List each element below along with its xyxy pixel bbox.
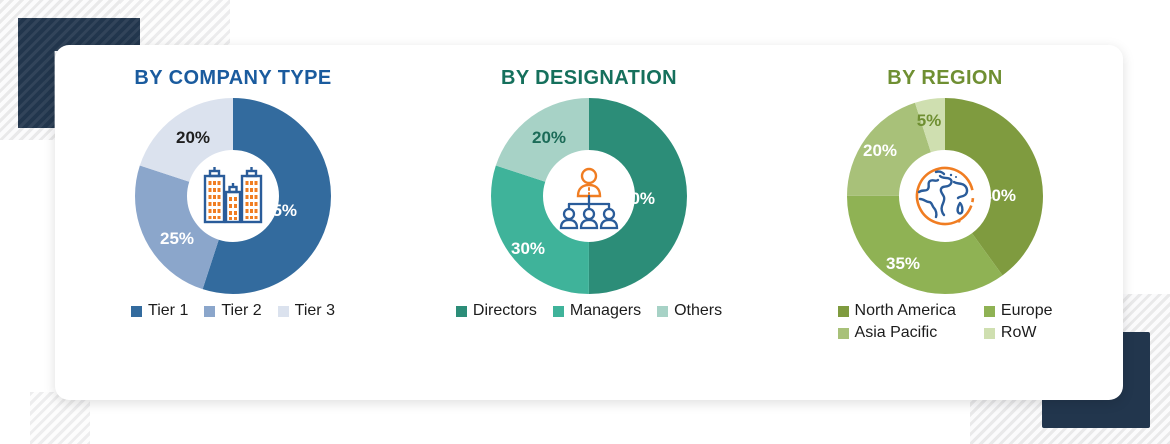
legend-company-type: Tier 1 Tier 2 Tier 3: [123, 302, 343, 320]
legend-item-managers[interactable]: Managers: [553, 302, 641, 320]
legend-swatch-directors: [456, 306, 467, 317]
legend-item-directors[interactable]: Directors: [456, 302, 537, 320]
panel-designation: BY DESIGNATION 50% 30% 20%: [411, 45, 767, 400]
slice-label-tier-2: 25%: [160, 229, 194, 249]
legend-item-asia-pacific[interactable]: Asia Pacific: [838, 324, 956, 342]
donut-region: 40% 35% 20% 5%: [837, 96, 1053, 296]
legend-swatch-tier-1: [131, 306, 142, 317]
slice-label-others: 20%: [532, 128, 566, 148]
infographic-root: BY COMPANY TYPE 55% 25% 20%: [0, 0, 1170, 444]
legend-item-row[interactable]: RoW: [984, 324, 1053, 342]
panel-company-type: BY COMPANY TYPE 55% 25% 20%: [55, 45, 411, 400]
legend-label-row: RoW: [1001, 324, 1037, 342]
legend-swatch-managers: [553, 306, 564, 317]
legend-label-managers: Managers: [570, 302, 641, 320]
donut-designation: 50% 30% 20%: [481, 96, 697, 296]
slice-label-europe: 35%: [886, 254, 920, 274]
legend-swatch-europe: [984, 306, 995, 317]
legend-swatch-tier-3: [278, 306, 289, 317]
legend-item-tier-3[interactable]: Tier 3: [278, 302, 335, 320]
panel-title-company-type: BY COMPANY TYPE: [134, 67, 331, 90]
legend-item-europe[interactable]: Europe: [984, 302, 1053, 320]
legend-swatch-tier-2: [204, 306, 215, 317]
legend-swatch-asia-pacific: [838, 328, 849, 339]
panel-title-region: BY REGION: [887, 67, 1002, 90]
chart-card: BY COMPANY TYPE 55% 25% 20%: [55, 45, 1123, 400]
legend-label-tier-1: Tier 1: [148, 302, 188, 320]
org-chart-icon: [551, 158, 627, 234]
legend-label-asia-pacific: Asia Pacific: [855, 324, 938, 342]
legend-item-north-america[interactable]: North America: [838, 302, 956, 320]
legend-label-others: Others: [674, 302, 722, 320]
buildings-icon: [195, 158, 271, 234]
slice-label-north-america: 40%: [982, 186, 1016, 206]
legend-item-tier-1[interactable]: Tier 1: [131, 302, 188, 320]
legend-swatch-row: [984, 328, 995, 339]
legend-label-tier-3: Tier 3: [295, 302, 335, 320]
legend-item-tier-2[interactable]: Tier 2: [204, 302, 261, 320]
legend-item-others[interactable]: Others: [657, 302, 722, 320]
chart-panels: BY COMPANY TYPE 55% 25% 20%: [55, 45, 1123, 400]
slice-label-row: 5%: [917, 111, 942, 131]
globe-icon: [907, 158, 983, 234]
panel-region: BY REGION 40% 35% 20% 5%: [767, 45, 1123, 400]
slice-label-tier-3: 20%: [176, 128, 210, 148]
legend-region: North America Europe Asia Pacific RoW: [838, 302, 1053, 342]
legend-label-directors: Directors: [473, 302, 537, 320]
legend-swatch-others: [657, 306, 668, 317]
legend-swatch-north-america: [838, 306, 849, 317]
panel-title-designation: BY DESIGNATION: [501, 67, 677, 90]
legend-label-north-america: North America: [855, 302, 956, 320]
slice-label-asia-pacific: 20%: [863, 141, 897, 161]
legend-label-tier-2: Tier 2: [221, 302, 261, 320]
legend-label-europe: Europe: [1001, 302, 1053, 320]
donut-company-type: 55% 25% 20%: [125, 96, 341, 296]
legend-designation: Directors Managers Others: [448, 302, 730, 320]
slice-label-managers: 30%: [511, 239, 545, 259]
